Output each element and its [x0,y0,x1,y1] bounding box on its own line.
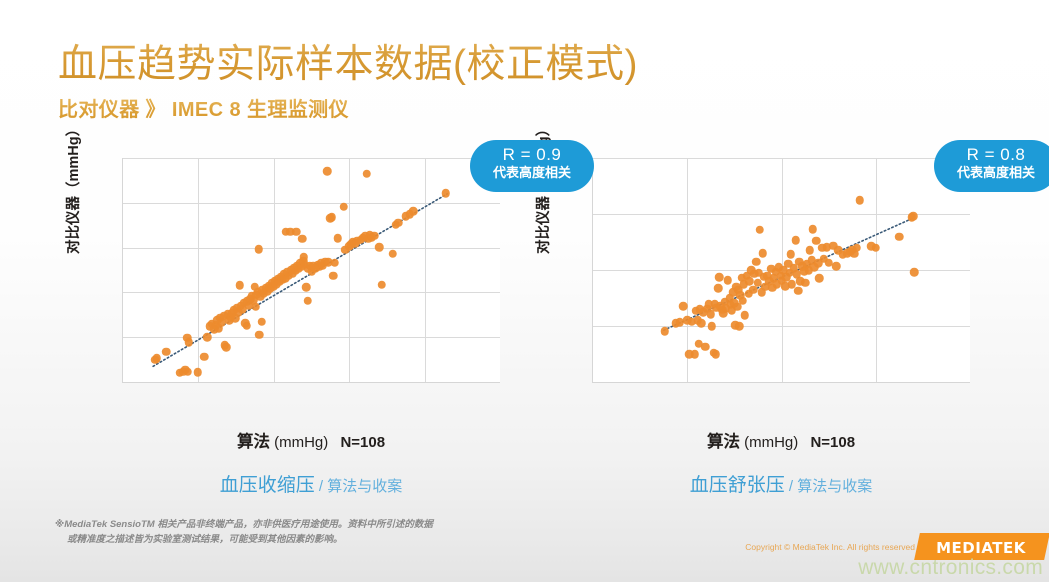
gridline-horizontal [123,248,500,249]
data-point [739,297,748,306]
scatter-plot-systolic: 8010012014016018080100120140160180 [122,158,500,383]
data-point [660,327,669,336]
data-point [323,167,332,176]
page-subtitle: 比对仪器 》 IMEC 8 生理监测仪 [58,93,349,122]
data-point [340,203,349,212]
data-point [377,280,386,289]
data-point [334,234,343,243]
x-axis-label-main: 算法 [707,433,740,451]
x-axis-sample-size: N=108 [340,434,385,451]
data-point [255,331,264,340]
data-point [303,296,312,305]
correlation-note: 代表高度相关 [934,166,1049,181]
scatter-plot-diastolic: 406080100120406080100120 [592,158,970,383]
data-point [697,319,706,328]
data-point [808,225,817,234]
data-point [752,257,761,266]
data-point [735,322,744,331]
data-point [203,333,212,342]
data-point [855,196,864,205]
data-point [298,234,307,243]
data-point [193,368,202,377]
data-point [806,246,815,255]
data-point [715,273,724,282]
data-point [153,354,162,363]
data-point [787,250,796,259]
data-point [328,213,337,222]
data-point [745,277,754,286]
chart-caption-systolic: 血压收缩压 / 算法与收案 [122,470,500,497]
data-point [791,236,800,245]
correlation-value: R = 0.9 [470,145,594,165]
chart-frame: 对比仪器（mmHg） 80100120140160180801001201401… [62,150,532,410]
gridline-horizontal [123,292,500,293]
chart-panel-systolic: 对比仪器（mmHg） 80100120140160180801001201401… [62,150,532,410]
data-point [375,243,384,252]
data-point [184,367,193,376]
disclaimer-line-2: 或精准度之描述皆为实验室测试结果，可能受到其他因素的影响。 [55,533,555,548]
y-axis-title: 对比仪器（mmHg） [62,124,83,254]
chart-frame: 对比仪器（mmHg） 406080100120406080100120 R = … [532,150,1002,410]
data-point [756,225,765,234]
x-axis-title: 算法 (mmHg) N=108 [122,428,500,452]
x-axis-title: 算法 (mmHg) N=108 [592,428,970,452]
gridline-vertical [425,158,426,382]
mediatek-logo-text: MEDIATEK [921,539,1041,557]
data-point [895,233,904,242]
data-point [853,243,862,252]
correlation-note: 代表高度相关 [470,166,594,181]
data-point [758,249,767,258]
footer-disclaimer: ※MediaTek SensioTM 相关产品非终端产品，亦非供医疗用途使用。资… [55,518,555,547]
caption-main: 血压收缩压 [220,475,315,496]
data-point [724,276,733,285]
gridline-horizontal [123,337,500,338]
gridline-vertical [274,158,275,382]
data-point [184,338,193,347]
data-point [441,189,450,198]
gridline-vertical [198,158,199,382]
data-point [331,258,340,267]
data-point [815,274,824,283]
data-point [711,350,720,359]
correlation-badge-systolic: R = 0.9 代表高度相关 [470,140,594,192]
data-point [910,268,919,277]
disclaimer-line-1: ※MediaTek SensioTM 相关产品非终端产品，亦非供医疗用途使用。资… [55,519,433,530]
data-point [370,232,379,241]
data-point [409,207,418,216]
data-point [794,286,803,295]
caption-sub: / 算法与收案 [785,478,873,495]
data-point [329,272,338,281]
data-point [242,321,251,330]
data-point [389,250,398,259]
data-point [200,352,209,361]
x-axis-label-unit: (mmHg) [744,434,798,451]
data-point [257,317,266,326]
correlation-badge-diastolic: R = 0.8 代表高度相关 [934,140,1049,192]
plot-wrap: 8010012014016018080100120140160180 R = 0… [122,158,500,383]
plot-wrap: 406080100120406080100120 R = 0.8 代表高度相关 [592,158,970,383]
gridline-horizontal [593,326,970,327]
page-title: 血压趋势实际样本数据(校正模式) [58,33,638,89]
caption-main: 血压舒张压 [690,475,785,496]
caption-sub: / 算法与收案 [315,478,403,495]
correlation-value: R = 0.8 [934,145,1049,165]
data-point [832,262,841,271]
site-watermark: www.cntronics.com [858,556,1043,580]
data-point [691,350,700,359]
x-axis-sample-size: N=108 [810,434,855,451]
chart-panel-diastolic: 对比仪器（mmHg） 406080100120406080100120 R = … [532,150,1002,410]
data-point [236,281,245,290]
data-point [708,322,717,331]
x-axis-label-main: 算法 [237,433,270,451]
data-point [251,302,260,311]
data-point [302,283,311,292]
data-point [394,219,403,228]
data-point [909,212,918,221]
chart-caption-diastolic: 血压舒张压 / 算法与收案 [592,470,970,497]
data-point [679,302,688,311]
data-point [254,245,263,254]
data-point [162,348,171,357]
data-point [714,284,723,293]
data-point [701,342,710,351]
gridline-horizontal [123,158,500,159]
gridline-horizontal [593,158,970,159]
x-axis-label-unit: (mmHg) [274,434,328,451]
gridline-horizontal [123,203,500,204]
data-point [872,243,881,252]
copyright-text: Copyright © MediaTek Inc. All rights res… [745,542,915,552]
data-point [740,311,749,320]
data-point [801,279,810,288]
gridline-vertical [349,158,350,382]
data-point [222,343,231,352]
data-point [362,169,371,178]
